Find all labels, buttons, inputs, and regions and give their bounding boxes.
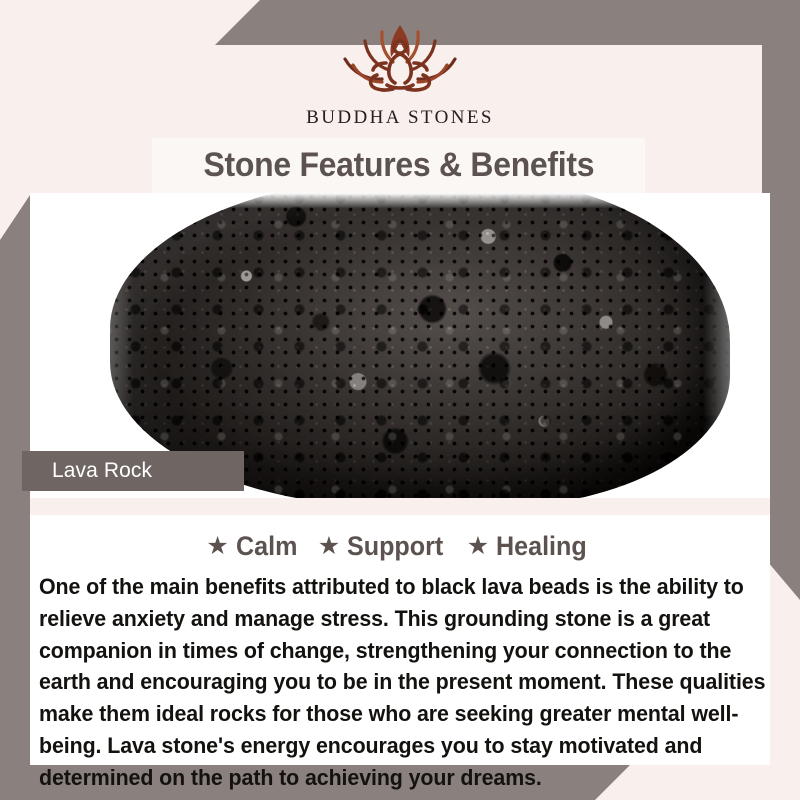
benefits-list: ★ Calm ★ Support ★ Healing (36, 523, 764, 569)
frame-bar-left (0, 195, 30, 800)
infographic-page: BUDDHA STONES Stone Features & Benefits … (0, 0, 800, 800)
page-title: Stone Features & Benefits (203, 146, 594, 185)
brand-header: BUDDHA STONES (0, 0, 800, 148)
lotus-meditation-icon (325, 19, 475, 101)
star-icon: ★ (467, 534, 489, 559)
benefit-label: Calm (236, 531, 297, 562)
benefit-item-calm: ★ Calm (206, 531, 301, 562)
stone-name-tag: Lava Rock (22, 451, 244, 491)
star-icon: ★ (318, 534, 340, 559)
star-icon: ★ (206, 534, 228, 559)
stone-description: One of the main benefits attributed to b… (39, 571, 779, 794)
benefit-item-healing: ★ Healing (467, 531, 594, 562)
benefit-item-support: ★ Support (318, 531, 451, 562)
benefit-label: Support (347, 531, 443, 562)
brand-name: BUDDHA STONES (306, 107, 494, 129)
stone-content-panel: ★ Calm ★ Support ★ Healing One of the ma… (30, 515, 770, 765)
stone-name: Lava Rock (52, 459, 152, 483)
page-title-band: Stone Features & Benefits (152, 138, 645, 193)
benefit-label: Healing (496, 531, 587, 562)
